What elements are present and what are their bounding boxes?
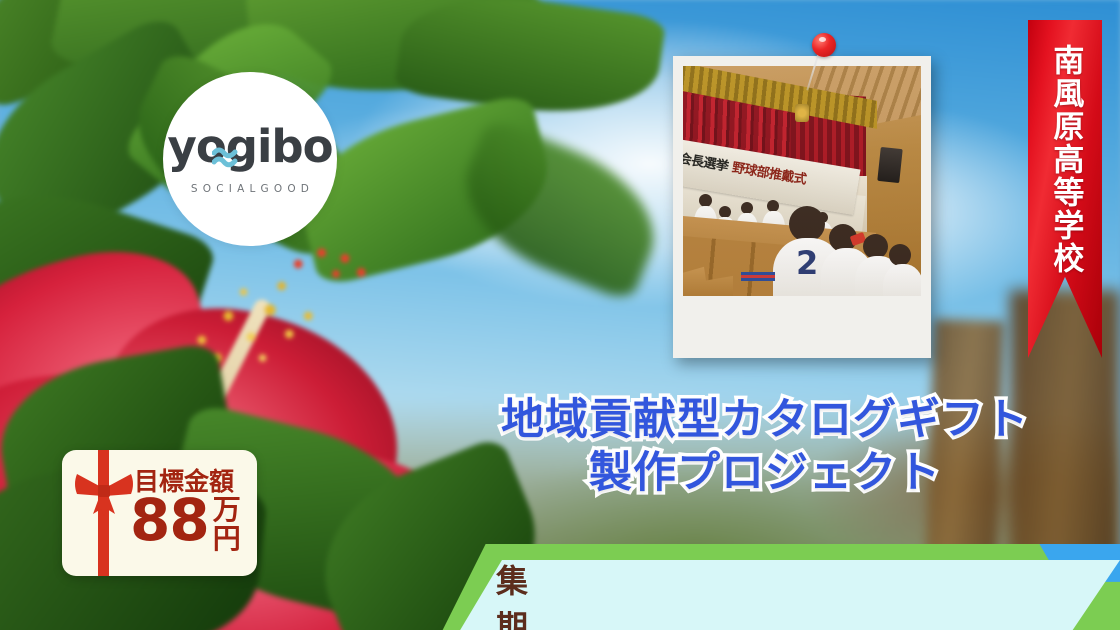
- yogibo-squiggle-icon: [212, 146, 238, 168]
- title-line-2: 製作プロジェクト: [450, 447, 1080, 500]
- page-title: 地域貢献型カタログギフト 製作プロジェクト: [450, 394, 1080, 501]
- gift-bow-icon: [73, 468, 135, 516]
- school-assembly-photo: 会長選挙 野球部推戴式: [683, 66, 921, 296]
- yogibo-logo-badge[interactable]: yogibo SOCIALGOOD: [163, 72, 337, 246]
- photo-tone: [683, 66, 921, 296]
- campaign-period-bar: 募集期間 2024.12.11－2025.3.10: [424, 560, 1120, 630]
- red-pushpin-icon: [812, 33, 836, 57]
- campaign-banner: yogibo SOCIALGOOD 会長選挙 野球部推戴式: [0, 0, 1120, 630]
- goal-unit-yen: 円: [213, 525, 241, 554]
- school-name-text: 南風原高等学校: [1049, 44, 1082, 275]
- logo-wordmark: yogibo: [167, 124, 332, 169]
- polaroid-frame[interactable]: 会長選挙 野球部推戴式: [673, 56, 931, 358]
- logo-tagline: SOCIALGOOD: [186, 183, 314, 195]
- title-line-1: 地域貢献型カタログギフト: [450, 394, 1080, 447]
- flower-stigma: [282, 243, 372, 313]
- logo-wordmark-text: yogibo: [167, 120, 332, 173]
- goal-number: 88: [130, 494, 209, 547]
- goal-amount: 88 万 円: [130, 494, 241, 553]
- goal-unit: 万 円: [213, 496, 241, 553]
- goal-unit-man: 万: [213, 496, 241, 525]
- goal-amount-badge: 目標金額 88 万 円: [62, 450, 257, 576]
